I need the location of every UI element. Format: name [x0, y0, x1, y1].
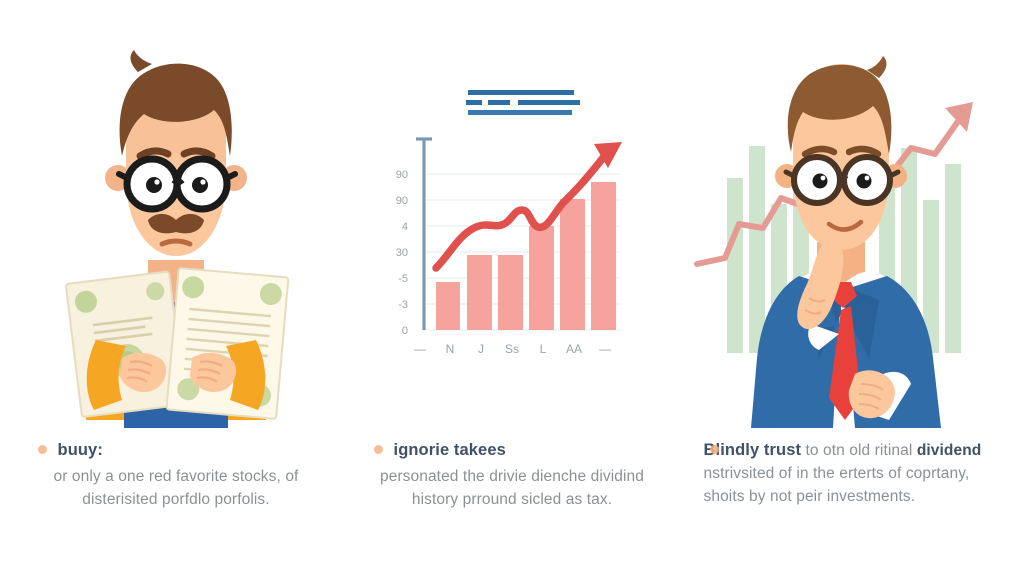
y-tick-labels: 90 90 4 30 -5 -3 0 [396, 169, 408, 337]
text-lines-placeholder-icon [466, 90, 580, 115]
svg-text:Ss: Ss [505, 342, 519, 356]
panel-one-caption: buuy: or only a one red favorite stocks,… [32, 438, 321, 512]
bullet-dot-icon [38, 445, 47, 454]
x-tick-labels: — N J Ss L AA — [414, 342, 611, 356]
infographic-root: buuy: or only a one red favorite stocks,… [0, 0, 1024, 585]
man-holding-stock-certificates-illustration [26, 28, 326, 428]
background-trend-arrowhead [945, 102, 973, 132]
svg-text:90: 90 [396, 195, 408, 207]
caption-heading-three: Blindly trust to otn old ritinal dividen… [704, 438, 993, 509]
caption-heading-one: buuy: [32, 438, 321, 463]
caption-heading-one-text: buuy: [58, 441, 103, 459]
svg-text:AA: AA [566, 342, 582, 356]
svg-text:-5: -5 [398, 273, 408, 285]
panel-two-caption: ignorie takees personated the drivie die… [368, 438, 657, 512]
svg-text:4: 4 [402, 221, 408, 233]
svg-text:L: L [540, 342, 547, 356]
svg-text:—: — [599, 342, 611, 356]
caption-heading-two-text: ignorie takees [394, 441, 506, 459]
svg-text:—: — [414, 342, 426, 356]
svg-text:30: 30 [396, 247, 408, 259]
svg-text:90: 90 [396, 169, 408, 181]
panel-three-art [680, 18, 1016, 438]
svg-text:0: 0 [402, 325, 408, 337]
svg-text:J: J [478, 342, 484, 356]
caption-inline-strong-dividend: dividend [917, 442, 982, 459]
caption-body-one: or only a one red favorite stocks, of di… [32, 466, 321, 512]
chart-bars [436, 182, 616, 330]
svg-text:-3: -3 [398, 299, 408, 311]
caption-heading-three-rest: to otn old ritinal [801, 442, 917, 459]
bullet-dot-icon [710, 445, 719, 454]
businessman-thinking-illustration [683, 28, 1013, 428]
panel-one-art [8, 18, 344, 438]
caption-body-three: nstrivsited of in the erterts of coprtan… [704, 465, 970, 505]
bullet-dot-icon [374, 445, 383, 454]
svg-text:N: N [446, 342, 455, 356]
panel-three: Blindly trust to otn old ritinal dividen… [680, 18, 1016, 575]
panel-two: 90 90 4 30 -5 -3 0 [344, 18, 680, 575]
panel-two-art: 90 90 4 30 -5 -3 0 [344, 18, 680, 438]
panel-one: buuy: or only a one red favorite stocks,… [8, 18, 344, 575]
panel-three-caption: Blindly trust to otn old ritinal dividen… [704, 438, 993, 512]
bar-chart-illustration: 90 90 4 30 -5 -3 0 [362, 78, 662, 378]
caption-body-two: personated the drivie dienche dividind h… [368, 466, 657, 512]
caption-heading-two: ignorie takees [368, 438, 657, 463]
